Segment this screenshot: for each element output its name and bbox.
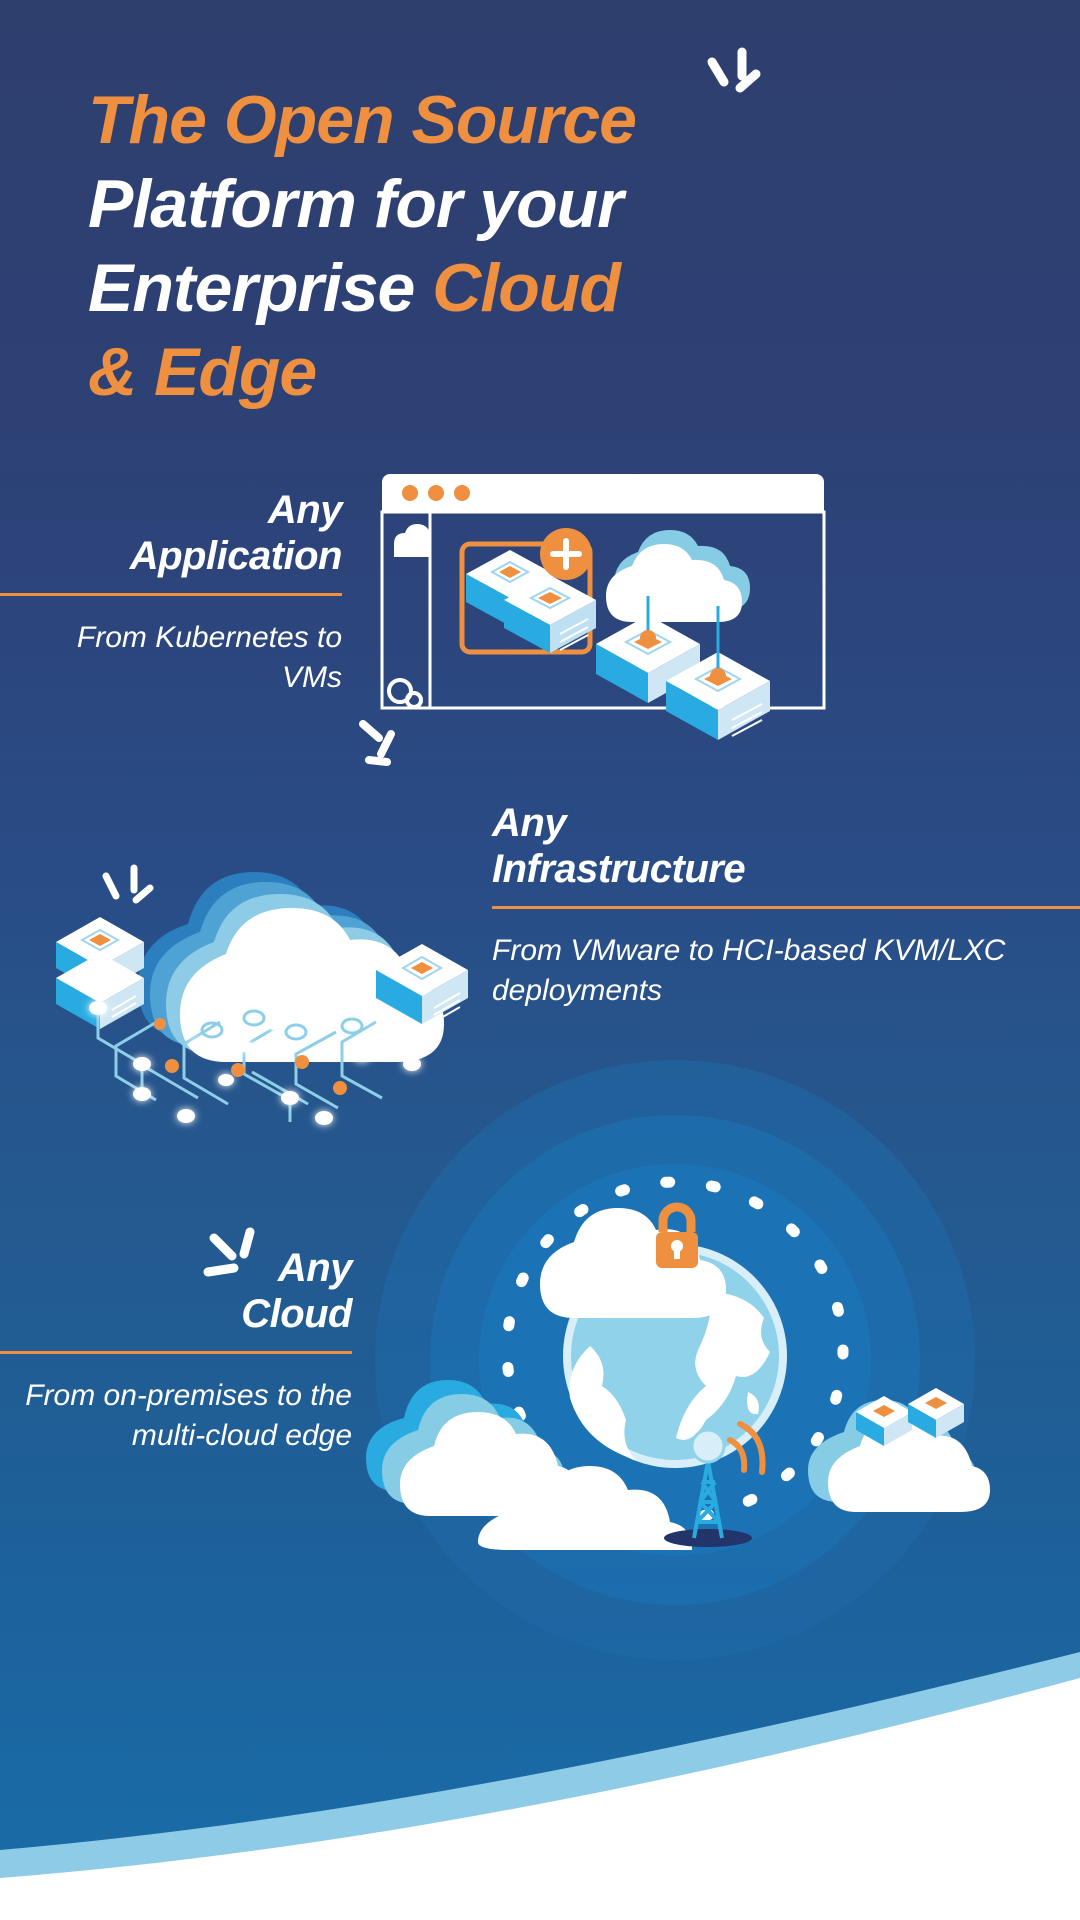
illustration-any-infrastructure — [40, 812, 500, 1142]
divider-application — [0, 593, 342, 596]
hero-line-4: & Edge — [88, 330, 768, 414]
server-stack-icon — [596, 615, 770, 740]
infographic-poster: The Open Source Platform for your Enterp… — [0, 0, 1080, 1920]
cloud-icon — [606, 530, 750, 622]
hero-line-3: Enterprise Cloud — [88, 246, 768, 330]
orange-dot — [428, 485, 444, 501]
section-title-infrastructure: Any Infrastructure — [492, 800, 1080, 892]
cloud-sidebar-icon — [394, 524, 430, 557]
section-any-cloud: Any Cloud From on-premises to the multi-… — [0, 1245, 352, 1456]
illustration-any-application — [380, 466, 826, 774]
hero-line-1-text: The Open Source — [88, 82, 636, 158]
section-body-infrastructure: From VMware to HCI-based KVM/LXC deploym… — [492, 931, 1080, 1011]
section-body-application: From Kubernetes to VMs — [0, 618, 342, 698]
section-body-cloud: From on-premises to the multi-cloud edge — [0, 1376, 352, 1456]
divider-cloud — [0, 1351, 352, 1354]
sparkle-icon — [106, 868, 150, 900]
orange-dot — [454, 485, 470, 501]
sparkle-icon — [200, 1222, 280, 1298]
section-title-infrastructure-line2: Infrastructure — [492, 847, 745, 891]
illustration-any-cloud — [360, 1150, 1080, 1540]
page-title: The Open Source Platform for your Enterp… — [88, 78, 768, 414]
hero-line-3-accent: Cloud — [432, 250, 620, 326]
hero-line-1: The Open Source — [88, 78, 768, 162]
hero-line-2: Platform for your — [88, 162, 768, 246]
section-title-application-line2: Application — [130, 534, 342, 578]
section-any-infrastructure: Any Infrastructure From VMware to HCI-ba… — [492, 800, 1080, 1011]
section-title-cloud-line1: Any — [278, 1246, 352, 1290]
section-title-application: Any Application — [0, 487, 342, 579]
section-title-cloud: Any Cloud — [0, 1245, 352, 1337]
divider-infrastructure — [492, 906, 1080, 909]
section-title-infrastructure-line1: Any — [492, 801, 566, 845]
sparkle-icon — [355, 712, 425, 778]
bottom-wave-decoration — [0, 1640, 1080, 1920]
hero-line-2-text: Platform for your — [88, 166, 623, 242]
section-title-cloud-line2: Cloud — [241, 1292, 352, 1336]
plus-badge-icon — [540, 528, 592, 580]
orange-dot — [402, 485, 418, 501]
sparkle-icon — [690, 40, 780, 120]
section-any-application: Any Application From Kubernetes to VMs — [0, 487, 342, 698]
hero-line-3-text: Enterprise — [88, 250, 432, 326]
gear-icon — [389, 680, 421, 707]
section-title-application-line1: Any — [268, 488, 342, 532]
hero-line-4-text: & Edge — [88, 334, 316, 410]
